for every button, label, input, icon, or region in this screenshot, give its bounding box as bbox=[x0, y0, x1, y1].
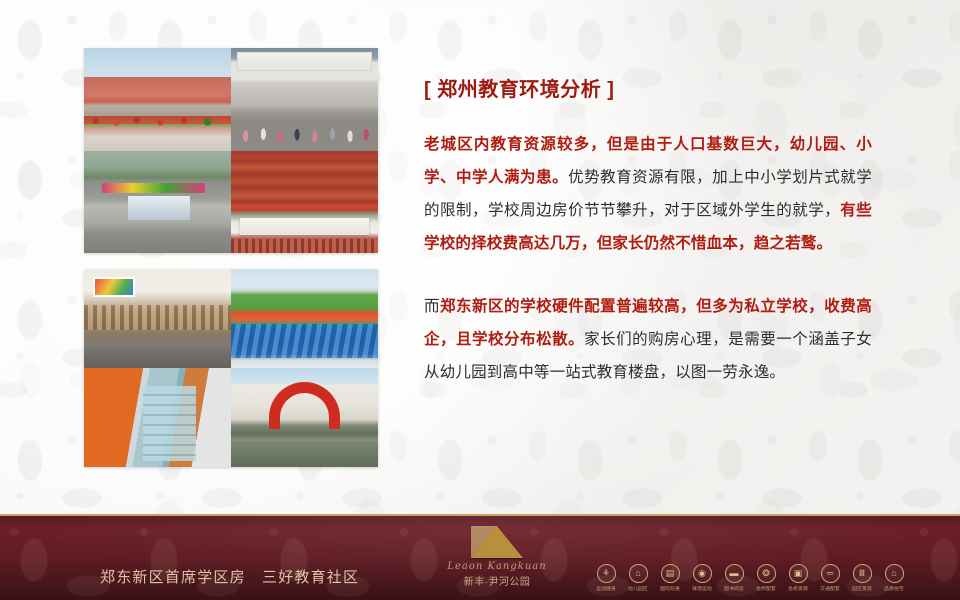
primary-school-icon: ▤ bbox=[661, 564, 680, 583]
footer-icon-home[interactable]: ⌂ 品质住宅 bbox=[884, 564, 904, 592]
paragraph-two: 而郑东新区的学校硬件配置普遍较高，但多为私立学校，收费高企，且学校分布松散。家长… bbox=[424, 290, 872, 389]
footer-icon-label: 名校资源 bbox=[788, 586, 809, 592]
photo-orange-building bbox=[84, 368, 231, 467]
footer-icon-label: 球场运动 bbox=[692, 586, 713, 592]
photo-school-gate-students bbox=[231, 48, 378, 151]
footer-icon-gate-pillars[interactable]: Ⅲ 园区景观 bbox=[852, 564, 872, 592]
photo-school-arch bbox=[231, 368, 378, 467]
footer-icon-label: 交通配套 bbox=[820, 586, 841, 592]
footer-icon-school-building[interactable]: ▣ 名校资源 bbox=[788, 564, 808, 592]
photo-school-redbuilding bbox=[84, 48, 231, 151]
paragraph-one: 老城区内教育资源较多，但是由于人口基数巨大，幼儿园、小学、中学人满为患。优势教育… bbox=[424, 128, 872, 260]
footer-icon-sports-ball[interactable]: ◉ 球场运动 bbox=[692, 564, 712, 592]
footer-tagline: 郑东新区首席学区房 三好教育社区 bbox=[100, 566, 359, 587]
photo-school-building-banner bbox=[231, 151, 378, 254]
photo-campus-gate-banner bbox=[84, 151, 231, 254]
photo-collage-bottom bbox=[84, 269, 378, 467]
brand-logo[interactable]: Leaon Kangkuan 新丰·尹河公园 bbox=[438, 524, 556, 598]
kindergarten-icon: ⌂ bbox=[629, 564, 648, 583]
slide-root: [ 郑州教育环境分析 ] 老城区内教育资源较多，但是由于人口基数巨大，幼儿园、小… bbox=[0, 0, 960, 600]
footer-icon-label: 运动健身 bbox=[596, 586, 617, 592]
footer-icon-label: 会所配套 bbox=[756, 586, 777, 592]
footer-icon-label: 图书阅览 bbox=[724, 586, 745, 592]
photo-collage-top bbox=[84, 48, 378, 253]
footer-icon-label: 国际双语 bbox=[660, 586, 681, 592]
logo-script-text: Leaon Kangkuan bbox=[438, 561, 556, 572]
para2-run-1: 而 bbox=[424, 298, 440, 315]
photo-stadium-track bbox=[231, 269, 378, 368]
gate-pillars-icon: Ⅲ bbox=[853, 564, 872, 583]
clubhouse-icon: ❂ bbox=[757, 564, 776, 583]
footer-icon-label: 园区景观 bbox=[852, 586, 873, 592]
footer-icon-fitness[interactable]: ⚘ 运动健身 bbox=[596, 564, 616, 592]
sports-ball-icon: ◉ bbox=[693, 564, 712, 583]
logo-chinese-text: 新丰·尹河公园 bbox=[438, 573, 556, 588]
footer-icon-library[interactable]: ▬ 图书阅览 bbox=[724, 564, 744, 592]
photo-library-interior bbox=[84, 269, 231, 368]
footer-icon-kindergarten[interactable]: ⌂ 幼儿园区 bbox=[628, 564, 648, 592]
page-title: [ 郑州教育环境分析 ] bbox=[424, 78, 872, 102]
school-building-icon: ▣ bbox=[789, 564, 808, 583]
footer-icon-primary-school[interactable]: ▤ 国际双语 bbox=[660, 564, 680, 592]
footer-icon-strip: ⚘ 运动健身 ⌂ 幼儿园区 ▤ 国际双语 ◉ 球场运动 ▬ 图书阅览 ❂ 会所配… bbox=[596, 564, 904, 592]
footer-icon-label: 幼儿园区 bbox=[628, 586, 649, 592]
home-icon: ⌂ bbox=[885, 564, 904, 583]
footer-icon-bridge[interactable]: ═ 交通配套 bbox=[820, 564, 840, 592]
pyramid-icon bbox=[471, 526, 523, 558]
library-icon: ▬ bbox=[725, 564, 744, 583]
text-column: [ 郑州教育环境分析 ] 老城区内教育资源较多，但是由于人口基数巨大，幼儿园、小… bbox=[424, 78, 872, 389]
fitness-icon: ⚘ bbox=[597, 564, 616, 583]
footer-icon-label: 品质住宅 bbox=[884, 586, 905, 592]
footer-icon-clubhouse[interactable]: ❂ 会所配套 bbox=[756, 564, 776, 592]
bridge-icon: ═ bbox=[821, 564, 840, 583]
